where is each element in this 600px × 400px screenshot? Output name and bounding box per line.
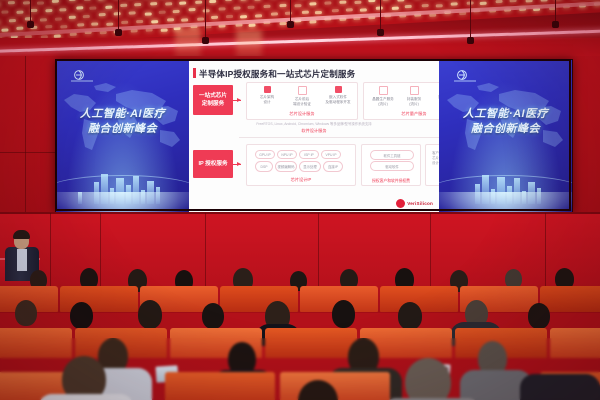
circle-icon (379, 86, 388, 95)
section-label-ip-licensing: IP 授权服务 (193, 150, 233, 178)
item-chip-architecture: 芯片架构 设计 (251, 86, 283, 105)
ip-chip: VPU IP (321, 150, 341, 159)
screen-right-panel: 人工智能·AI医疗 融合创新峰会 (439, 60, 572, 212)
screen-left-panel: 人工智能·AI医疗 融合创新峰会 (56, 60, 189, 212)
spotlight-beam (175, 28, 201, 58)
verisilicon-logo-icon (396, 199, 405, 208)
document-icon (298, 86, 307, 95)
ip-chip: DSP (255, 161, 273, 172)
hanging-spotlight (205, 0, 206, 38)
ip-chip: NPU IP (277, 150, 297, 159)
card-mass-production-services: 晶圆生产服务 (流片) 封装服务 (流片) 测试服务 (流片) 芯片量产服务 (363, 82, 439, 120)
ip-chip: GPU IP (255, 150, 275, 159)
ip-chip: 视频编解码 (275, 161, 297, 172)
section1-label-line1: 一站式芯片 (199, 93, 227, 99)
hanging-spotlight (380, 0, 381, 30)
wall-seam (0, 152, 56, 153)
section2-label: IP 授权服务 (198, 161, 227, 167)
item-design-verification: 芯片前后 端设计验证 (286, 86, 318, 107)
city-skyline-graphic (56, 166, 189, 212)
software-design-caption: 软件设计服务 (189, 128, 439, 134)
stack-icon (410, 86, 419, 95)
card-design-ip: GPU IP NPU IP ISP IP VPU IP DSP 视频编解码 显示… (246, 144, 356, 186)
hanging-spotlight (555, 0, 556, 22)
item-embedded-software: 嵌入式软件 及驱动程序开发 (321, 86, 355, 105)
audience-head (528, 303, 550, 329)
screen-left-title: 人工智能·AI医疗 融合创新峰会 (56, 107, 189, 137)
slide-title-accent (193, 68, 196, 78)
audience-head (405, 358, 451, 400)
card-chip-design-services: 芯片架构 设计 芯片前后 端设计验证 嵌入式软件 及驱动程序开发 芯片设计服务 (246, 82, 358, 120)
item-packaging: 封装服务 (流片) (399, 86, 429, 107)
card-caption-design-ip: 芯片设计IP (247, 177, 355, 183)
item-testing: 测试服务 (流片) (430, 86, 439, 105)
audience-head (70, 302, 93, 329)
stage-top-edge (0, 212, 600, 214)
audience-shoulders (520, 374, 600, 400)
package-icon (335, 86, 342, 93)
hanging-spotlight (118, 0, 119, 30)
os-support-note: FreeRTOS, Linux, Android, Chromium, Wind… (189, 121, 439, 126)
section1-label-line2: 定制服务 (202, 101, 224, 107)
audience-area (0, 268, 600, 400)
slide-title: 半导体IP授权服务和一站式芯片定制服务 (199, 68, 355, 80)
audience-shoulders (38, 394, 134, 400)
hanging-spotlight (290, 0, 291, 22)
ceiling (0, 0, 600, 58)
wall-seam (25, 56, 26, 216)
item-wafer-production: 晶圆生产服务 (流片) (368, 86, 398, 107)
ip-chip: ISP IP (299, 150, 319, 159)
screen-left-title-line2: 融合创新峰会 (56, 122, 189, 137)
card-caption-chip-design: 芯片设计服务 (247, 111, 357, 117)
audience-head (398, 302, 422, 330)
hanging-spotlight (30, 0, 31, 22)
screen-left-title-line1: 人工智能·AI医疗 (56, 107, 189, 122)
audience-head (138, 300, 162, 329)
audience-head (15, 300, 37, 326)
presentation-slide: 半导体IP授权服务和一站式芯片定制服务 一站式芯片 定制服务 芯片架构 设计 芯… (189, 60, 439, 212)
led-display-wall: 人工智能·AI医疗 融合创新峰会 半导体IP授权服务和一站式芯片定制 (55, 59, 573, 213)
audience-head (332, 300, 355, 328)
brand-name: VeriSilicon (407, 201, 433, 206)
ip-chip: 连接IP (323, 161, 343, 172)
screen-right-title: 人工智能·AI医疗 融合创新峰会 (439, 107, 572, 137)
brand-logo: VeriSilicon (396, 199, 433, 208)
audience-head (202, 303, 224, 329)
card-caption-license-fee: 授权客户和软件授权费 (362, 179, 420, 184)
sw-chip: 驱动软件 (370, 161, 414, 171)
hanging-spotlight (470, 0, 471, 38)
card-caption-mass-production: 芯片量产服务 (364, 111, 439, 117)
city-skyline-graphic (439, 166, 572, 212)
screen-right-title-line1: 人工智能·AI医疗 (439, 107, 572, 122)
slide-divider (239, 137, 439, 138)
screen-right-title-line2: 融合创新峰会 (439, 122, 572, 137)
spotlight-beam (236, 30, 262, 58)
section-label-turnkey: 一站式芯片 定制服务 (193, 85, 233, 115)
sw-chip: 软件工具链 (370, 150, 414, 160)
card-customer-chip-design: 客户 芯片 设计 (425, 144, 439, 186)
chip-icon (264, 86, 271, 93)
ip-chip: 显示处理 (299, 161, 321, 172)
conference-hall-photo: 人工智能·AI医疗 融合创新峰会 半导体IP授权服务和一站式芯片定制 (0, 0, 600, 400)
card-software-licensing: 软件工具链 驱动软件 授权客户和软件授权费 (361, 144, 421, 186)
